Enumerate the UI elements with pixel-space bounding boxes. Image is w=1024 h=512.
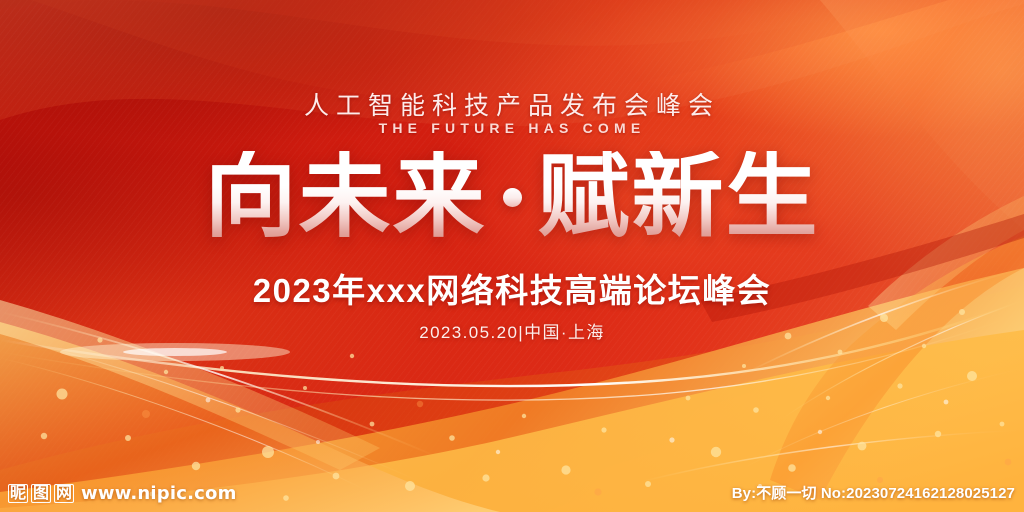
poster-canvas: 人工智能科技产品发布会峰会 THE FUTURE HAS COME 向未来 赋新… [0,0,1024,512]
poster-content: 人工智能科技产品发布会峰会 THE FUTURE HAS COME 向未来 赋新… [0,0,1024,512]
headline-separator-dot [503,188,522,207]
watermark-url: www.nipic.com [81,483,237,504]
nipic-logo-char-1: 昵 [8,484,28,503]
watermark-left: 昵 图 网 www.nipic.com [8,483,237,504]
headline: 向未来 赋新生 [0,143,1024,251]
eyebrow-chinese: 人工智能科技产品发布会峰会 [0,86,1024,122]
watermark-credit: By:不顾一切 No:20230724162128025127 [732,482,1015,503]
nipic-logo-char-3: 网 [54,484,74,503]
nipic-logo-char-2: 图 [31,484,51,503]
dateline: 2023.05.20|中国·上海 [0,318,1024,343]
eyebrow-english: THE FUTURE HAS COME [0,120,1024,136]
nipic-logo: 昵 图 网 [8,484,74,503]
headline-right: 赋新生 [538,151,820,243]
subtitle: 2023年xxx网络科技高端论坛峰会 [0,264,1024,312]
headline-left: 向未来 [204,151,486,243]
